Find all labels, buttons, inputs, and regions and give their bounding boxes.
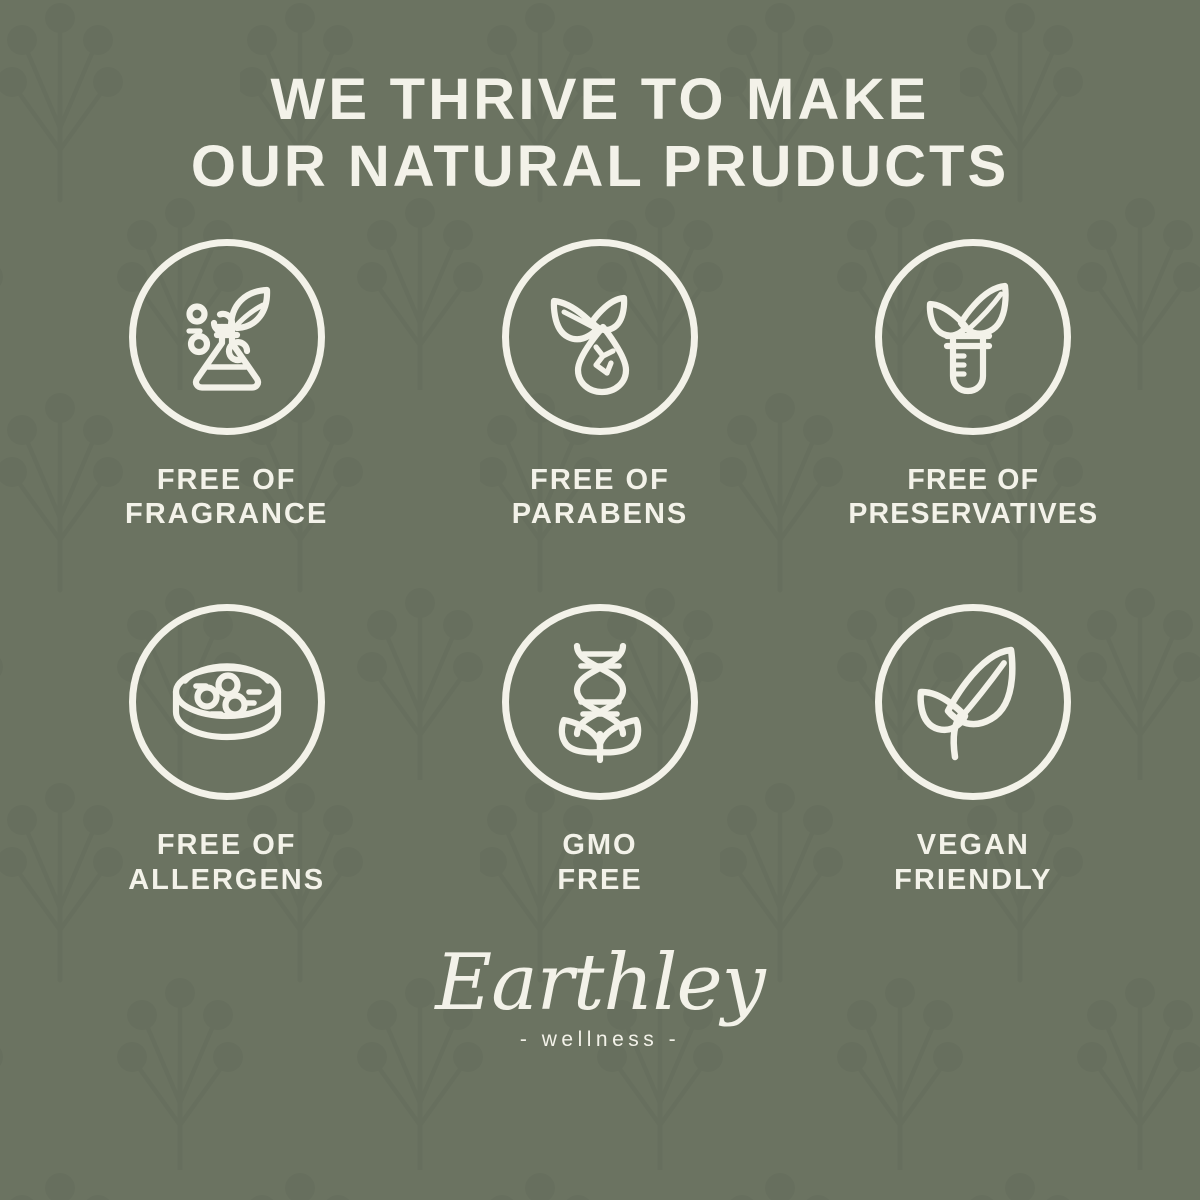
badge-circle: [875, 239, 1071, 435]
badge-free-of-preservatives: FREE OF PRESERVATIVES: [793, 239, 1153, 533]
two-leaves-icon: [912, 641, 1034, 763]
badge-free-of-allergens: FREE OF ALLERGENS: [47, 604, 407, 898]
badge-circle: [129, 239, 325, 435]
badge-label: FREE OF PARABENS: [512, 463, 689, 533]
badge-circle: [129, 604, 325, 800]
brand-tagline: - wellness -: [435, 1028, 764, 1052]
badge-circle: [875, 604, 1071, 800]
page-title: WE THRIVE TO MAKE OUR NATURAL PRUDUCTS: [30, 66, 1170, 201]
badge-circle: [502, 239, 698, 435]
badge-free-of-parabens: FREE OF PARABENS: [420, 239, 780, 533]
flask-with-leaf-icon: [167, 277, 287, 397]
poster-canvas: WE THRIVE TO MAKE OUR NATURAL PRUDUCTS: [0, 0, 1200, 1200]
badge-circle: [502, 604, 698, 800]
droplet-with-leaves-icon: [540, 277, 660, 397]
badge-label: FREE OF FRAGRANCE: [125, 463, 328, 533]
headline-line-2: OUR NATURAL PRUDUCTS: [30, 133, 1170, 200]
badge-label: VEGAN FRIENDLY: [894, 828, 1052, 898]
dna-plant-icon: [541, 640, 659, 764]
brand-wordmark: Earthley: [435, 944, 764, 1022]
badge-label: GMO FREE: [557, 828, 642, 898]
badge-gmo-free: GMO FREE: [420, 604, 780, 898]
headline-line-1: WE THRIVE TO MAKE: [30, 66, 1170, 133]
badge-vegan-friendly: VEGAN FRIENDLY: [793, 604, 1153, 898]
test-tube-with-leaves-icon: [913, 277, 1033, 397]
brand-logo: Earthley - wellness -: [435, 944, 764, 1052]
claims-grid: FREE OF FRAGRANCE: [40, 239, 1160, 898]
badge-label: FREE OF ALLERGENS: [128, 828, 325, 898]
petri-dish-icon: [165, 640, 289, 764]
badge-free-of-fragrance: FREE OF FRAGRANCE: [47, 239, 407, 533]
badge-label: FREE OF PRESERVATIVES: [848, 463, 1098, 531]
